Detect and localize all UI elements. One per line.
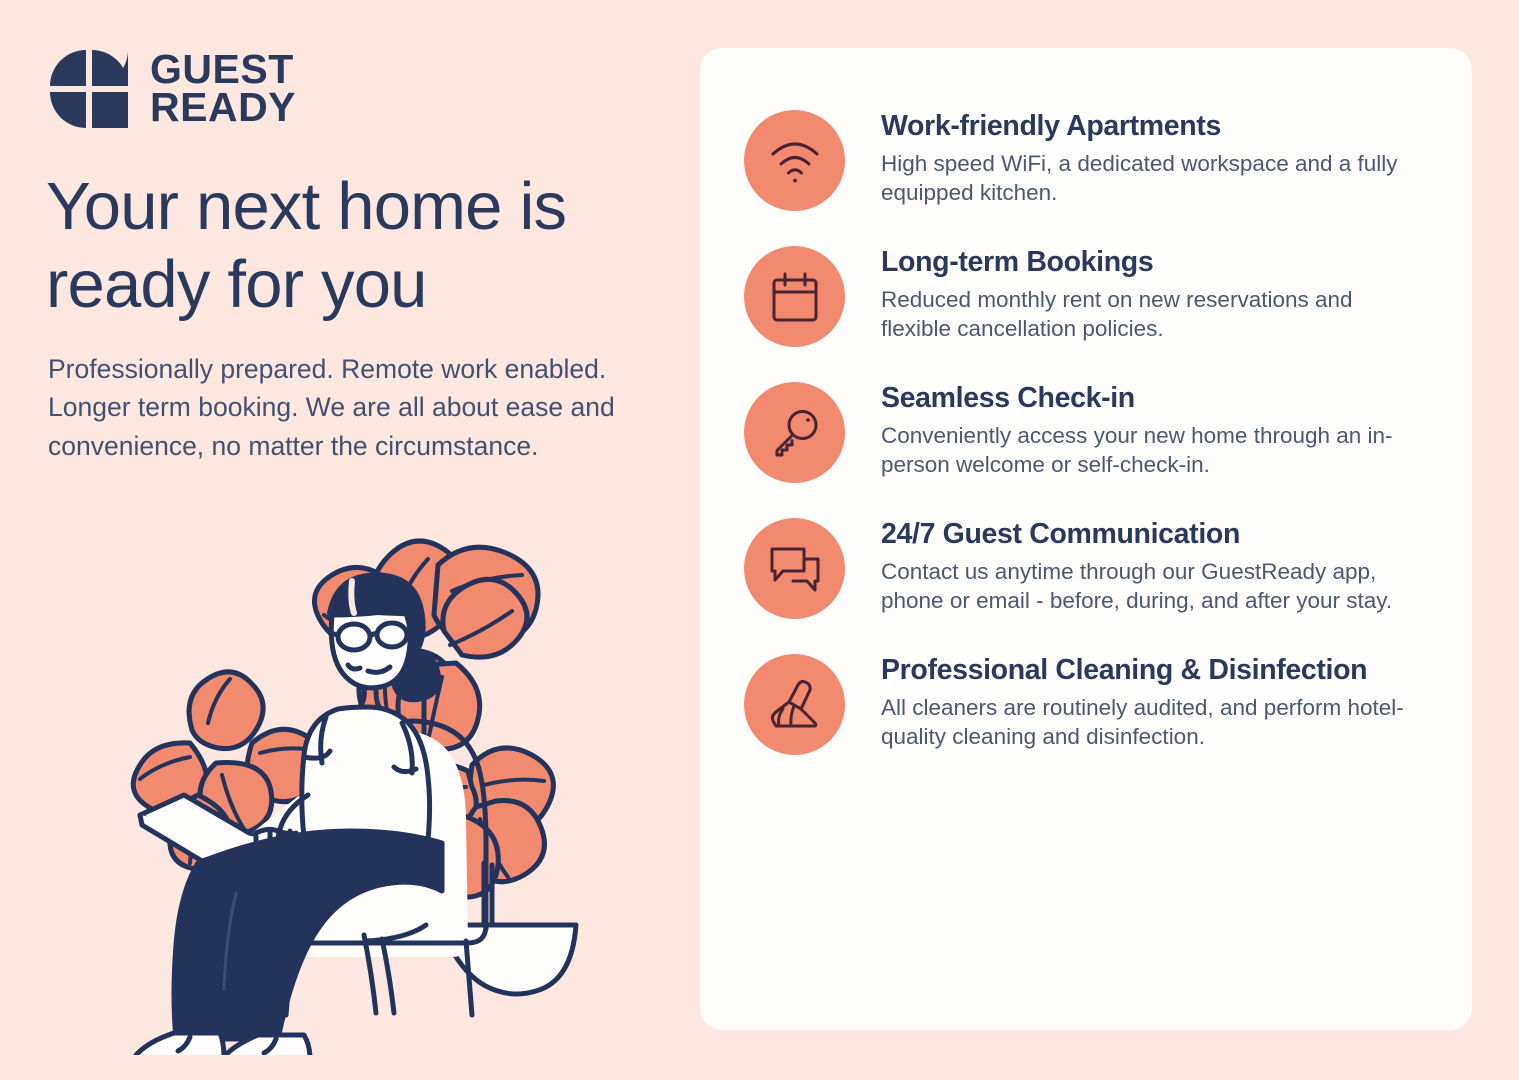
feature-text: 24/7 Guest Communication Contact us anyt… xyxy=(881,514,1428,615)
chat-bubbles-icon xyxy=(744,518,845,619)
wifi-icon xyxy=(744,110,845,211)
feature-list: Work-friendly Apartments High speed WiFi… xyxy=(744,106,1428,755)
guestready-quadrant-logo xyxy=(48,48,130,130)
brand-name-line2: READY xyxy=(150,89,296,127)
feature-title: Seamless Check-in xyxy=(881,382,1428,415)
feature-description: Reduced monthly rent on new reservations… xyxy=(881,286,1426,344)
page-title: Your next home is ready for you xyxy=(46,168,666,323)
feature-text: Work-friendly Apartments High speed WiFi… xyxy=(881,106,1428,207)
hero-column: GUEST READY Your next home is ready for … xyxy=(0,0,690,1080)
broom-icon xyxy=(744,654,845,755)
feature-text: Professional Cleaning & Disinfection All… xyxy=(881,650,1428,751)
feature-description: Contact us anytime through our GuestRead… xyxy=(881,558,1426,616)
feature-text: Long-term Bookings Reduced monthly rent … xyxy=(881,242,1428,343)
feature-text: Seamless Check-in Conveniently access yo… xyxy=(881,378,1428,479)
feature-description: Conveniently access your new home throug… xyxy=(881,422,1426,480)
features-card: Work-friendly Apartments High speed WiFi… xyxy=(700,48,1472,1030)
woman-with-laptop-in-armchair-with-plants xyxy=(80,495,620,1055)
feature-item-professional-cleaning[interactable]: Professional Cleaning & Disinfection All… xyxy=(744,650,1428,755)
key-icon xyxy=(744,382,845,483)
calendar-icon xyxy=(744,246,845,347)
feature-item-seamless-check-in[interactable]: Seamless Check-in Conveniently access yo… xyxy=(744,378,1428,483)
brand-wordmark: GUEST READY xyxy=(150,51,296,126)
brand-logo[interactable]: GUEST READY xyxy=(48,48,296,130)
hero-subcopy: Professionally prepared. Remote work ena… xyxy=(48,350,628,465)
feature-title: Long-term Bookings xyxy=(881,246,1428,279)
feature-item-guest-communication[interactable]: 24/7 Guest Communication Contact us anyt… xyxy=(744,514,1428,619)
feature-title: 24/7 Guest Communication xyxy=(881,518,1428,551)
feature-item-long-term-bookings[interactable]: Long-term Bookings Reduced monthly rent … xyxy=(744,242,1428,347)
feature-title: Professional Cleaning & Disinfection xyxy=(881,654,1428,687)
feature-description: High speed WiFi, a dedicated workspace a… xyxy=(881,150,1426,208)
feature-description: All cleaners are routinely audited, and … xyxy=(881,694,1426,752)
feature-item-work-friendly-apartments[interactable]: Work-friendly Apartments High speed WiFi… xyxy=(744,106,1428,211)
feature-title: Work-friendly Apartments xyxy=(881,110,1428,143)
